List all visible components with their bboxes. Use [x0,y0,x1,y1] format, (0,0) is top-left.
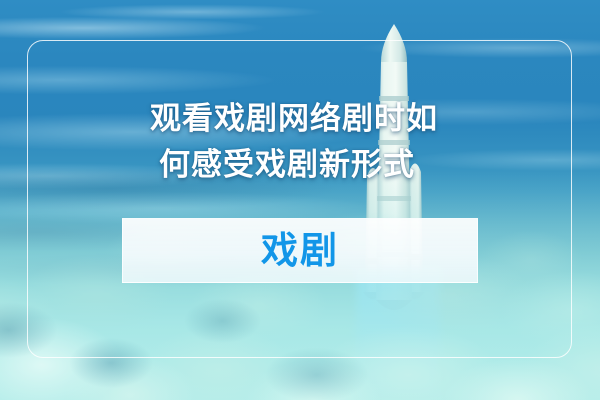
page-title: 观看戏剧网络剧时如 何感受戏剧新形式 [150,96,470,188]
exhaust-smoke [0,170,600,400]
page-title-line-1: 观看戏剧网络剧时如 [150,96,470,142]
keyword-label: 戏剧 [261,232,339,269]
rocket-nose-cone [381,24,407,62]
page-title-line-2: 何感受戏剧新形式 [150,142,470,188]
keyword-banner: 戏剧 [122,218,478,283]
poster-canvas: 观看戏剧网络剧时如 何感受戏剧新形式 戏剧 [0,0,600,400]
exhaust-smoke-dark [0,270,368,400]
